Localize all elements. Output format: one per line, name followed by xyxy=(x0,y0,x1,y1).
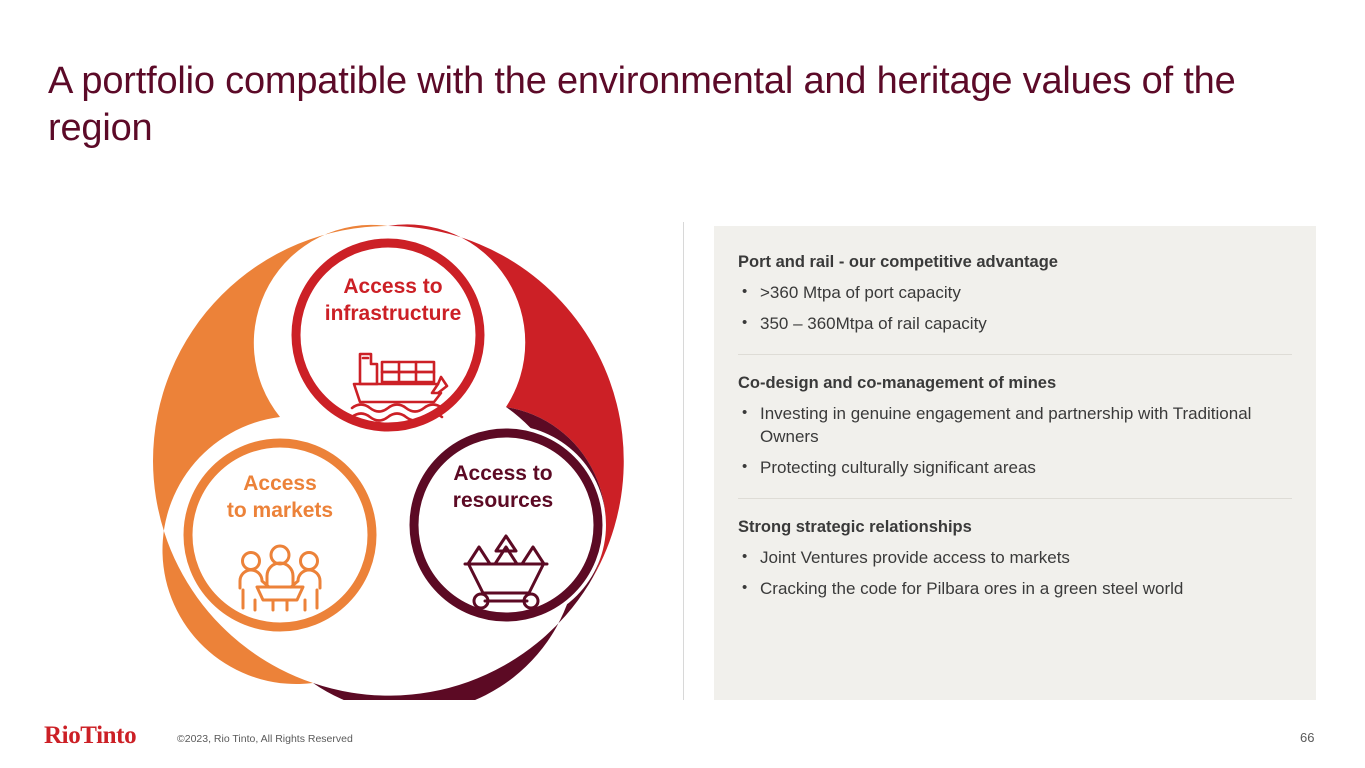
bullet-list: Joint Ventures provide access to markets… xyxy=(738,546,1292,600)
node-label-infrastructure: Access to infrastructure xyxy=(308,273,478,327)
panel-group-strategic-relationships: Strong strategic relationships Joint Ven… xyxy=(738,517,1292,600)
list-item: >360 Mtpa of port capacity xyxy=(738,281,1292,304)
group-heading: Co-design and co-management of mines xyxy=(738,373,1292,393)
group-separator xyxy=(738,354,1292,355)
list-item: Protecting culturally significant areas xyxy=(738,456,1292,479)
bullet-list: >360 Mtpa of port capacity 350 – 360Mtpa… xyxy=(738,281,1292,335)
panel-group-co-design: Co-design and co-management of mines Inv… xyxy=(738,373,1292,479)
copyright-text: ©2023, Rio Tinto, All Rights Reserved xyxy=(177,733,353,745)
page-number: 66 xyxy=(1300,730,1314,745)
list-item: 350 – 360Mtpa of rail capacity xyxy=(738,312,1292,335)
bullet-list: Investing in genuine engagement and part… xyxy=(738,402,1292,479)
node-disc-infrastructure[interactable] xyxy=(296,243,480,427)
info-panel: Port and rail - our competitive advantag… xyxy=(714,226,1316,700)
list-item: Joint Ventures provide access to markets xyxy=(738,546,1292,569)
vertical-divider xyxy=(683,222,684,700)
node-label-markets: Access to markets xyxy=(190,470,370,524)
node-label-resources: Access to resources xyxy=(418,460,588,514)
rio-tinto-logo: RioTinto xyxy=(44,722,136,750)
panel-group-port-and-rail: Port and rail - our competitive advantag… xyxy=(738,252,1292,335)
page-title: A portfolio compatible with the environm… xyxy=(48,58,1298,152)
list-item: Cracking the code for Pilbara ores in a … xyxy=(738,577,1292,600)
list-item: Investing in genuine engagement and part… xyxy=(738,402,1292,448)
three-pillar-diagram: Access to infrastructure Access to marke… xyxy=(143,222,633,700)
group-heading: Port and rail - our competitive advantag… xyxy=(738,252,1292,272)
group-heading: Strong strategic relationships xyxy=(738,517,1292,537)
group-separator xyxy=(738,498,1292,499)
